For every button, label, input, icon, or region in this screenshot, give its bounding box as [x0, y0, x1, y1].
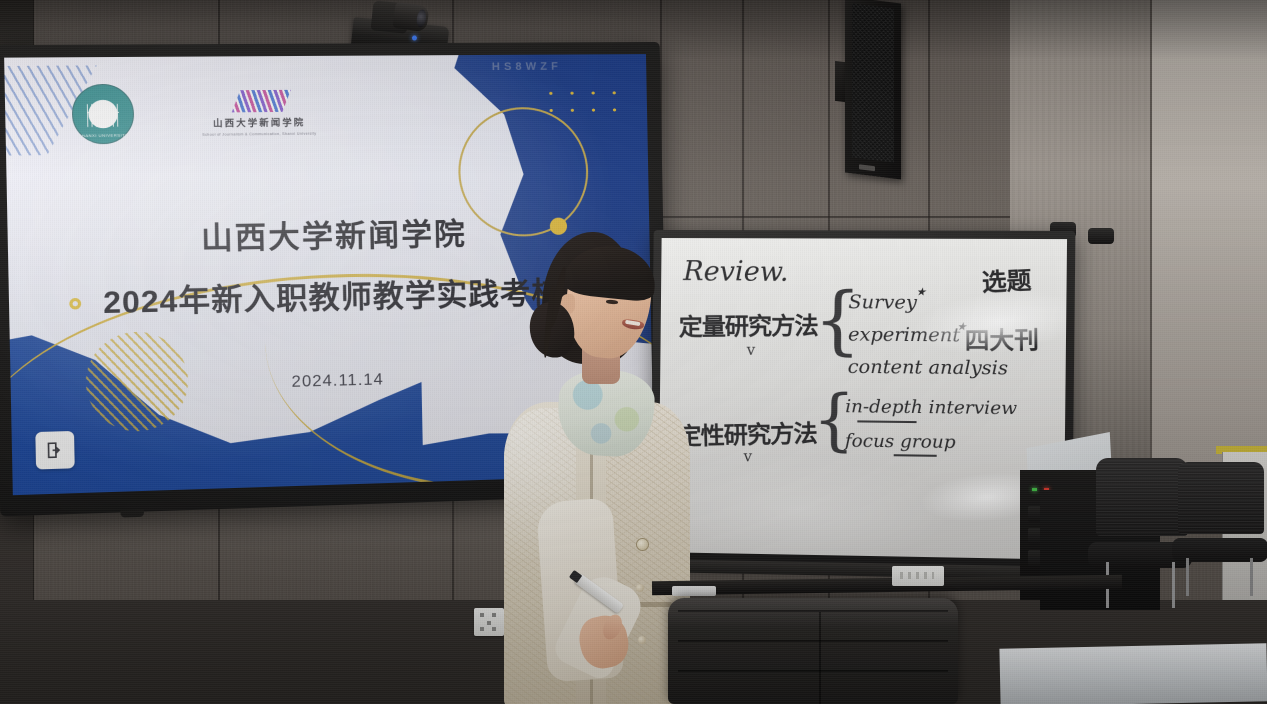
chair-back — [1178, 462, 1264, 534]
emblem-label: SHANXI UNIVERSITY — [73, 132, 133, 138]
slide-logo-row: SHANXI UNIVERSITY 山西大学新闻学院 School of Jou… — [71, 82, 316, 144]
classroom-scene: SHANXI UNIVERSITY 山西大学新闻学院 School of Jou… — [0, 0, 1267, 704]
whiteboard-item-focus-group: focus group — [845, 430, 956, 453]
camera-led-icon — [412, 35, 417, 40]
whiteboard-glare — [909, 282, 1067, 363]
display-ir-receiver — [121, 510, 145, 518]
whiteboard-surface[interactable]: ..... Review. 定量研究方法 { Survey ★ experime… — [658, 238, 1067, 560]
presenter-vest-button — [636, 584, 644, 592]
whiteboard-frame: ..... Review. 定量研究方法 { Survey ★ experime… — [650, 230, 1075, 568]
speaker-grille — [852, 3, 894, 162]
stacking-chair-right-2[interactable] — [1178, 462, 1264, 592]
chair-leg — [1250, 558, 1253, 596]
exit-button[interactable] — [35, 431, 74, 470]
whiteboard-item-in-depth-interview: in-depth interview — [845, 396, 1017, 419]
camera-lens-icon — [392, 2, 429, 32]
slide-deco-dot-grid — [540, 84, 625, 119]
column-speaker — [845, 0, 901, 179]
power-strip-box[interactable] — [892, 566, 944, 586]
right-wall-door — [1150, 0, 1267, 470]
student-desk-foreground — [999, 643, 1267, 704]
wall-seam — [652, 216, 1072, 218]
screen-watermark: HS8WZF — [492, 61, 562, 74]
whiteboard-mark-survey: ★ — [916, 285, 926, 298]
whiteboard-underline — [857, 420, 916, 422]
chair-back-panels — [678, 610, 948, 704]
whiteboard[interactable]: ..... Review. 定量研究方法 { Survey ★ experime… — [650, 230, 1075, 568]
whiteboard-item-survey: Survey — [848, 291, 917, 314]
whiteboard-vmark-1: v — [747, 341, 756, 359]
whiteboard-eraser[interactable] — [672, 586, 716, 596]
journalism-school-logo: 山西大学新闻学院 School of Journalism & Communic… — [201, 89, 316, 136]
journalism-logo-en: School of Journalism & Communication, Sh… — [202, 131, 316, 136]
rack-led-green-icon — [1032, 488, 1037, 491]
whiteboard-knob[interactable] — [1088, 228, 1114, 244]
chair-leg — [1186, 558, 1189, 596]
journalism-logo-cn: 山西大学新闻学院 — [213, 115, 305, 129]
chair-foreground[interactable] — [668, 598, 958, 704]
presenter-brooch — [636, 538, 649, 551]
chair-leg — [1172, 562, 1175, 608]
journalism-logo-mark-icon — [226, 89, 291, 112]
shanxi-university-emblem-icon: SHANXI UNIVERSITY — [71, 84, 134, 145]
chair-back-divider — [819, 612, 821, 704]
chair-back — [1096, 458, 1188, 536]
speaker-badge — [859, 164, 875, 171]
presenter-vest-button — [638, 636, 646, 644]
whiteboard-glare — [658, 452, 953, 560]
exit-icon — [45, 441, 65, 460]
